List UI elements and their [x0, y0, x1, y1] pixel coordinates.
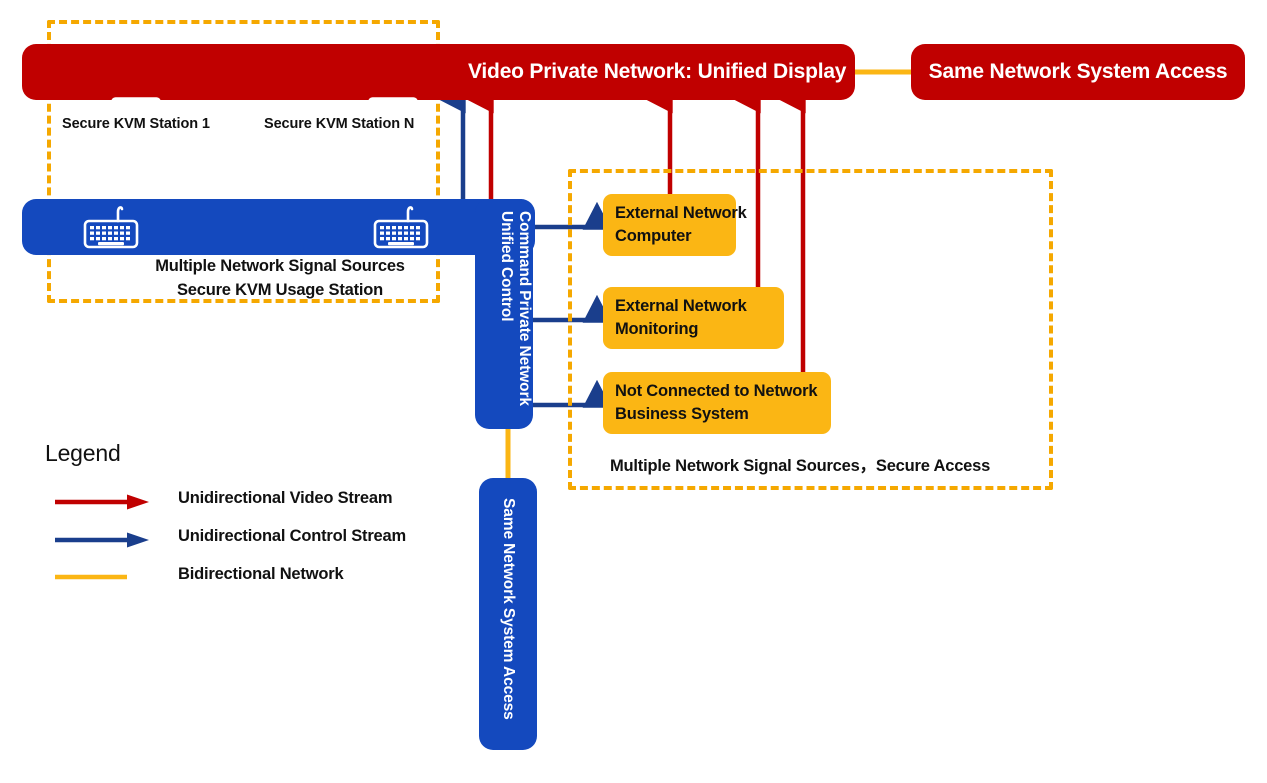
legend-label-control-stream: Unidirectional Control Stream: [178, 527, 406, 546]
video-private-network-title: Video Private Network: Unified Display: [468, 60, 846, 84]
business-system-box[interactable]: Not Connected to Network Business System: [603, 372, 831, 434]
secure-kvm-station-1-label: Secure KVM Station 1: [62, 116, 210, 132]
legend-title: Legend: [45, 440, 445, 467]
external-network-monitoring-box[interactable]: External Network Monitoring: [603, 287, 784, 349]
kvm-usage-caption-line2: Secure KVM Usage Station: [110, 279, 450, 303]
bottom-same-network-access-bar[interactable]: Same Network System Access: [479, 478, 537, 750]
diagram-canvas: ...... Video Private Network: Unified Di…: [0, 0, 1267, 783]
command-private-network-line1: Command Private Network: [515, 211, 533, 406]
legend-item-bidirectional: Bidirectional Network: [45, 561, 445, 597]
legend-item-video-stream: Unidirectional Video Stream: [45, 485, 445, 521]
same-network-system-access-box[interactable]: Same Network System Access: [911, 44, 1245, 100]
legend-line-orange-icon: [53, 573, 153, 583]
external-network-monitoring-line1: External Network: [615, 295, 774, 318]
legend-arrow-red-icon: [53, 493, 153, 511]
keyboard-icon: [372, 205, 434, 256]
kvm-usage-caption: Multiple Network Signal Sources Secure K…: [110, 255, 450, 303]
secure-kvm-station-n-label: Secure KVM Station N: [264, 116, 414, 132]
external-network-monitoring-line2: Monitoring: [615, 318, 774, 341]
video-private-network-bar[interactable]: ...... Video Private Network: Unified Di…: [22, 44, 855, 100]
legend-label-bidirectional: Bidirectional Network: [178, 565, 343, 584]
business-system-line2: Business System: [615, 403, 821, 426]
command-private-network-bar[interactable]: Command Private Network Unified Control: [475, 199, 533, 429]
bottom-same-network-access-label: Same Network System Access: [499, 498, 517, 720]
legend-label-video-stream: Unidirectional Video Stream: [178, 489, 392, 508]
external-network-computer-line2: Computer: [615, 225, 726, 248]
kvm-usage-caption-line1: Multiple Network Signal Sources: [110, 255, 450, 279]
legend-item-control-stream: Unidirectional Control Stream: [45, 521, 445, 561]
business-system-line1: Not Connected to Network: [615, 380, 821, 403]
legend: Legend Unidirectional Video Stream Unidi…: [45, 440, 445, 597]
external-group-caption: Multiple Network Signal Sources，Secure A…: [610, 452, 990, 476]
keyboard-icon: [82, 205, 144, 256]
secure-kvm-usage-bar[interactable]: [22, 199, 535, 255]
command-private-network-line2: Unified Control: [497, 211, 515, 321]
external-network-computer-box[interactable]: External Network Computer: [603, 194, 736, 256]
legend-arrow-blue-icon: [53, 531, 153, 549]
external-network-computer-line1: External Network: [615, 202, 726, 225]
same-network-system-access-label: Same Network System Access: [929, 60, 1228, 84]
